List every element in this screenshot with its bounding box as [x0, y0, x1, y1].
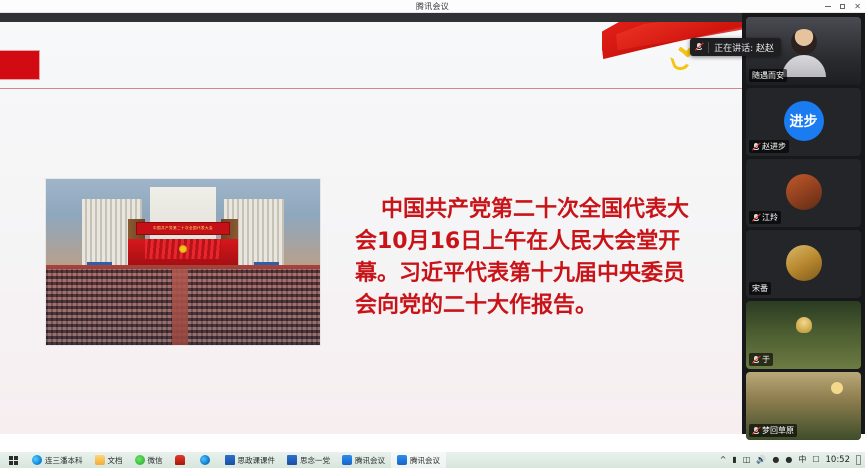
participant-nameplate: 赵进步 [749, 140, 789, 153]
powerpoint-icon [225, 455, 235, 465]
stage-top-band [0, 13, 742, 22]
taskbar-item-ppt-2[interactable]: 思念一党 [281, 452, 336, 468]
participant-tile[interactable]: 进步 赵进步 [746, 88, 861, 156]
participant-name: 宋番 [752, 283, 768, 294]
meeting-app-window: 腾讯会议 ✕ [0, 0, 865, 468]
mic-muted-icon [752, 356, 760, 364]
close-icon[interactable]: ✕ [854, 3, 861, 11]
participant-name: 赵进步 [762, 141, 786, 152]
taskbar-item-edge[interactable]: 连三潘本科 [26, 452, 89, 468]
taskbar-item-label: 思念一党 [300, 455, 330, 466]
divider-rule [0, 88, 742, 89]
slide-headline: 中国共产党第二十次全国代表大会10月16日上午在人民大会堂开幕。习近平代表第十九… [355, 194, 703, 322]
app-icon [175, 455, 185, 465]
participant-name: 江羚 [762, 212, 778, 223]
battery-icon[interactable]: ▮ [732, 456, 736, 464]
participant-name: 随遇而安 [752, 70, 784, 81]
avatar [786, 174, 822, 210]
taskbar-item-label: 腾讯会议 [410, 455, 440, 466]
window-controls: ✕ [825, 0, 861, 13]
participant-nameplate: 宋番 [749, 282, 771, 295]
taskbar-item-label: 文档 [108, 455, 123, 466]
tencent-meeting-icon [342, 455, 352, 465]
participant-nameplate: 梦回草原 [749, 424, 797, 437]
show-desktop-button[interactable] [856, 455, 861, 465]
chevron-up-icon[interactable]: ^ [720, 456, 727, 464]
participant-nameplate: 于 [749, 353, 773, 366]
participant-nameplate: 江羚 [749, 211, 781, 224]
ime-icon[interactable]: ● [785, 456, 792, 464]
tencent-meeting-icon [397, 455, 407, 465]
folder-icon [95, 455, 105, 465]
participant-name: 梦回草原 [762, 425, 794, 436]
taskbar-item-meeting-2[interactable]: 腾讯会议 [391, 452, 446, 468]
congress-hall-photo: 中国共产党第二十次全国代表大会 [45, 178, 321, 346]
taskbar-item-app[interactable] [169, 452, 194, 468]
title-bar: 腾讯会议 ✕ [0, 0, 865, 13]
taskbar-item-label: 微信 [148, 455, 163, 466]
minimize-icon[interactable] [825, 6, 831, 7]
shared-slide: 中国共产党第二十次全国代表大会 中国共产党第二十次全国代表大会10月16日上午在… [0, 22, 742, 434]
volume-icon[interactable]: 🔊 [756, 456, 766, 464]
ime-mode-label[interactable]: 中 [798, 456, 806, 464]
taskbar-item-meeting-1[interactable]: 腾讯会议 [336, 452, 391, 468]
participant-name: 于 [762, 354, 770, 365]
taskbar-item-label: 连三潘本科 [45, 455, 83, 466]
edge-icon [32, 455, 42, 465]
avatar: 进步 [784, 101, 824, 141]
speaking-indicator: 正在讲话: 赵赵 [690, 38, 781, 56]
participant-tile[interactable]: 于 [746, 301, 861, 369]
participant-tile[interactable]: 江羚 [746, 159, 861, 227]
edge-icon [200, 455, 210, 465]
windows-start-icon[interactable] [0, 452, 26, 468]
system-tray[interactable]: ^ ▮ ◫ 🔊 ● ● 中 ☐ 10:52 [720, 452, 865, 468]
participant-rail[interactable]: 随遇而安 进步 赵进步 江羚 宋番 [742, 13, 865, 434]
shared-screen-stage[interactable]: 中国共产党第二十次全国代表大会 中国共产党第二十次全国代表大会10月16日上午在… [0, 13, 742, 434]
taskbar-item-label: 思政课课件 [238, 455, 276, 466]
red-accent-block [0, 50, 40, 80]
participant-tile[interactable]: 宋番 [746, 230, 861, 298]
mic-muted-icon [752, 214, 760, 222]
powerpoint-icon [287, 455, 297, 465]
windows-taskbar[interactable]: 连三潘本科 文档 微信 思政课课件 思念一党 腾讯会议 [0, 452, 865, 468]
network-icon[interactable]: ◫ [743, 456, 751, 464]
taskbar-item-wechat[interactable]: 微信 [129, 452, 169, 468]
participant-tile[interactable]: 梦回草原 [746, 372, 861, 440]
taskbar-item-ppt-1[interactable]: 思政课课件 [219, 452, 282, 468]
taskbar-item-documents[interactable]: 文档 [89, 452, 129, 468]
language-icon[interactable]: ☐ [812, 456, 819, 464]
mic-muted-icon [752, 427, 760, 435]
speaking-label: 正在讲话: 赵赵 [714, 41, 774, 54]
taskbar-item-label: 腾讯会议 [355, 455, 385, 466]
wechat-icon [135, 455, 145, 465]
photo-banner: 中国共产党第二十次全国代表大会 [136, 222, 229, 235]
taskbar-item-browser[interactable] [194, 452, 219, 468]
mic-muted-icon [752, 143, 760, 151]
avatar [786, 245, 822, 281]
taskbar-clock[interactable]: 10:52 [826, 455, 851, 465]
photo-banner-text: 中国共产党第二十次全国代表大会 [137, 223, 228, 234]
participant-nameplate: 随遇而安 [749, 69, 787, 82]
mic-muted-icon [695, 43, 703, 51]
maximize-icon[interactable] [840, 4, 845, 9]
sync-icon[interactable]: ● [772, 456, 779, 464]
window-title: 腾讯会议 [416, 1, 449, 12]
